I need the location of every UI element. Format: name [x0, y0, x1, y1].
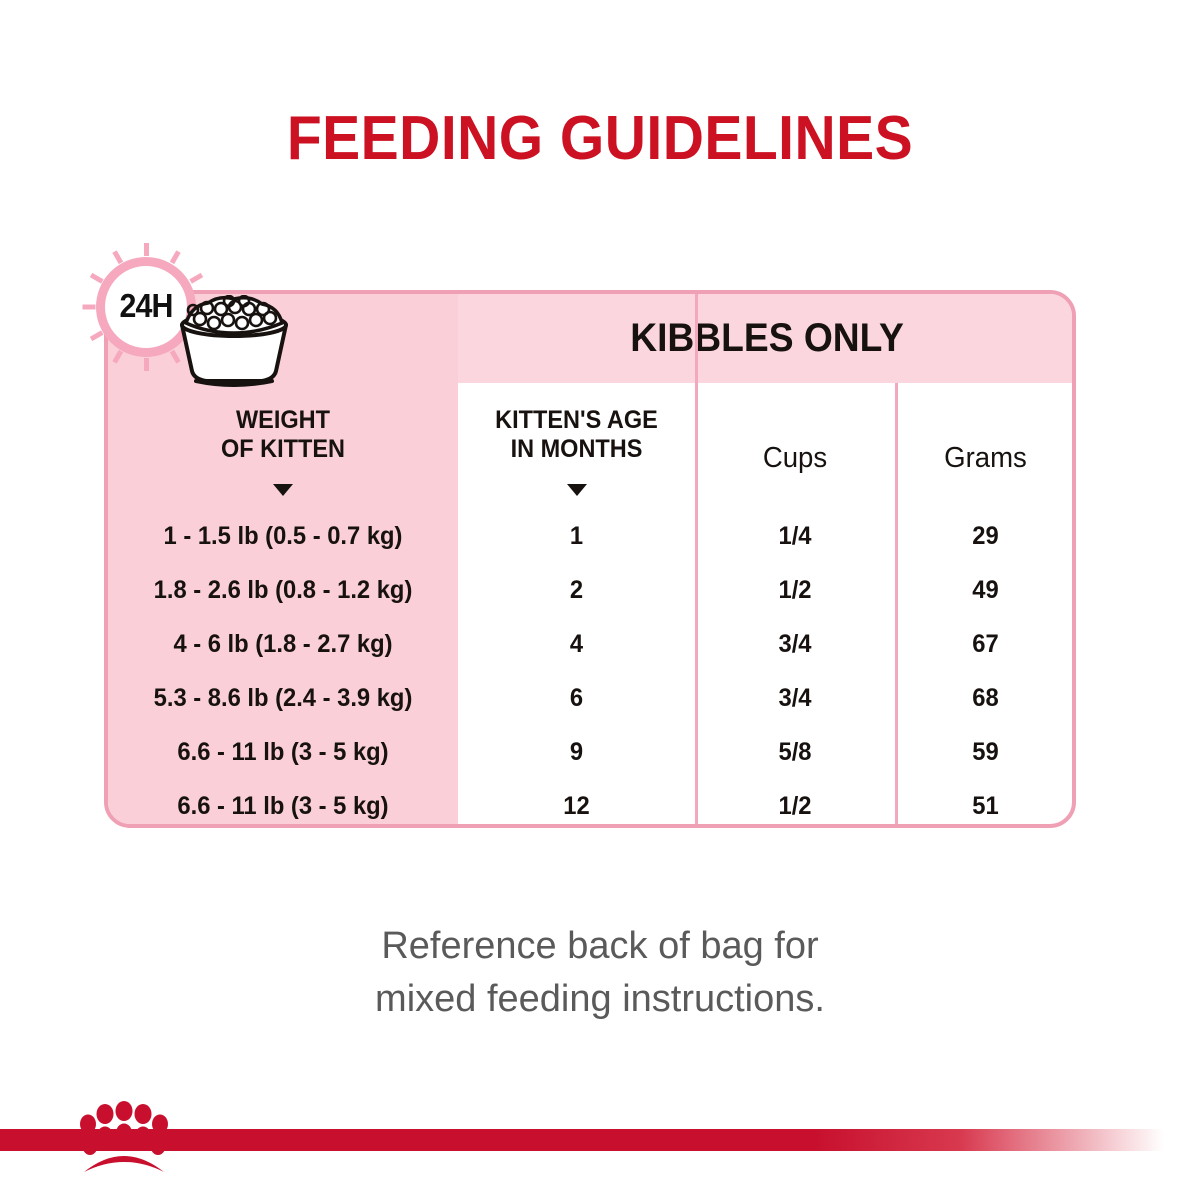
table-cell-age: 9 [464, 738, 689, 766]
column-header-cups: Cups [700, 442, 890, 474]
footnote: Reference back of bag for mixed feeding … [0, 920, 1200, 1026]
brand-bar [0, 1129, 1200, 1151]
clock-tick [89, 273, 103, 284]
table-cell-weight: 5.3 - 8.6 lb (2.4 - 3.9 kg) [117, 684, 450, 712]
table-cell-cups: 3/4 [700, 630, 890, 658]
clock-tick [89, 330, 103, 341]
table-cell-grams: 49 [900, 576, 1072, 604]
table-column-age: KITTEN'S AGE IN MONTHS 1 2 4 6 9 12 [458, 294, 695, 824]
table-cell-age: 1 [464, 522, 689, 550]
table-cell-cups: 5/8 [700, 738, 890, 766]
table-cell-cups: 1/2 [700, 576, 890, 604]
column-header-weight: WEIGHT OF KITTEN [119, 406, 448, 464]
caret-down-icon-weight [273, 484, 293, 496]
table-cell-age: 4 [464, 630, 689, 658]
table-cell-weight: 4 - 6 lb (1.8 - 2.7 kg) [117, 630, 450, 658]
table-cell-grams: 51 [900, 792, 1072, 820]
column-header-age-line2: IN MONTHS [465, 435, 688, 464]
clock-tick [169, 250, 180, 264]
table-cell-weight: 6.6 - 11 lb (3 - 5 kg) [117, 738, 450, 766]
column-header-weight-line1: WEIGHT [119, 406, 448, 435]
page-title: FEEDING GUIDELINES [48, 104, 1152, 174]
clock-tick [144, 243, 149, 256]
table-cell-cups: 1/2 [700, 792, 890, 820]
footnote-line2: mixed feeding instructions. [0, 973, 1200, 1026]
clock-tick [112, 250, 123, 264]
clock-tick [112, 350, 123, 364]
table-cell-grams: 68 [900, 684, 1072, 712]
table-column-cups: Cups 1/4 1/2 3/4 3/4 5/8 1/2 [695, 294, 895, 824]
clock-tick [144, 358, 149, 371]
table-cell-age: 12 [464, 792, 689, 820]
table-cell-grams: 29 [900, 522, 1072, 550]
column-header-age: KITTEN'S AGE IN MONTHS [465, 406, 688, 464]
table-cell-cups: 3/4 [700, 684, 890, 712]
table-cell-weight: 1.8 - 2.6 lb (0.8 - 1.2 kg) [117, 576, 450, 604]
table-cell-grams: 67 [900, 630, 1072, 658]
column-header-age-line1: KITTEN'S AGE [465, 406, 688, 435]
table-column-grams: Grams 29 49 67 68 59 51 [895, 294, 1076, 824]
caret-down-icon-age [567, 484, 587, 496]
table-cell-grams: 59 [900, 738, 1072, 766]
column-header-weight-line2: OF KITTEN [119, 435, 448, 464]
clock-tick [189, 273, 203, 284]
table-cell-cups: 1/4 [700, 522, 890, 550]
footnote-line1: Reference back of bag for [0, 920, 1200, 973]
table-cell-age: 6 [464, 684, 689, 712]
table-cell-weight: 6.6 - 11 lb (3 - 5 kg) [117, 792, 450, 820]
table-cell-weight: 1 - 1.5 lb (0.5 - 0.7 kg) [117, 522, 450, 550]
feeding-frequency-badge: 24H [82, 243, 322, 393]
food-bowl-kibble-icon [174, 295, 294, 387]
table-cell-age: 2 [464, 576, 689, 604]
column-header-grams: Grams [900, 442, 1072, 474]
royal-canin-crown-logo [72, 1100, 176, 1178]
